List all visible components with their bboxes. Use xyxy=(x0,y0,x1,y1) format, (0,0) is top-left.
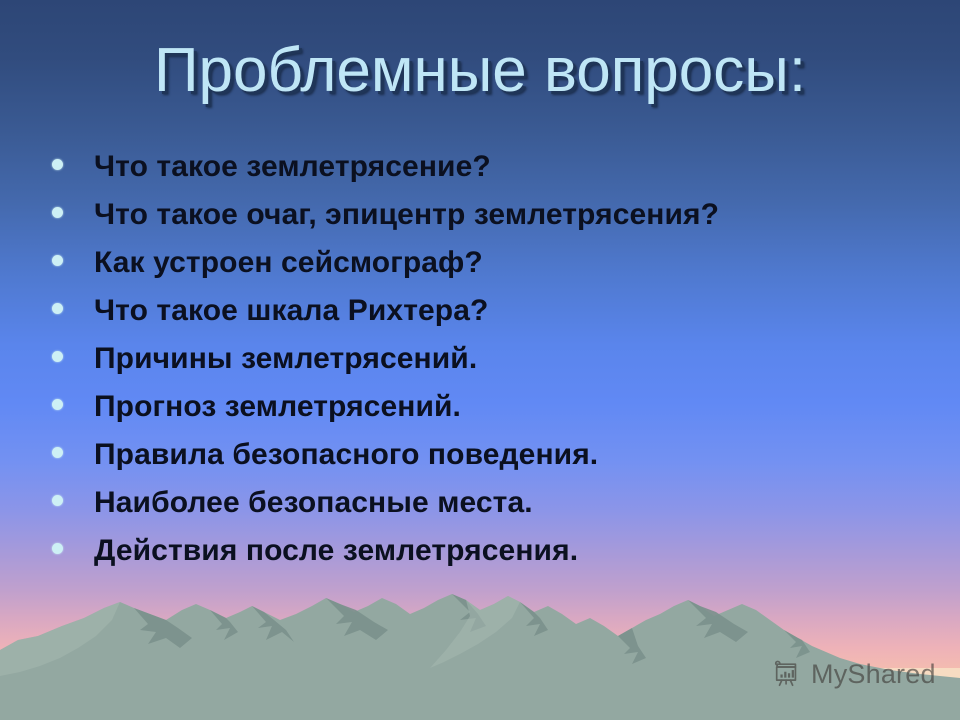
list-item: Причины землетрясений. xyxy=(52,344,932,392)
list-item: Что такое шкала Рихтера? xyxy=(52,296,932,344)
list-item-label: Как устроен сейсмограф? xyxy=(94,248,932,278)
list-item: Прогноз землетрясений. xyxy=(52,392,932,440)
bullet-marker-icon xyxy=(52,495,63,506)
bullet-marker-icon xyxy=(52,303,63,314)
list-item-label: Наиболее безопасные места. xyxy=(94,488,932,518)
list-item: Действия после землетрясения. xyxy=(52,536,932,584)
watermark-label: MyShared xyxy=(811,661,936,688)
list-item-label: Что такое очаг, эпицентр землетрясения? xyxy=(94,200,932,230)
slide-title: Проблемные вопросы: xyxy=(0,38,960,103)
list-item: Правила безопасного поведения. xyxy=(52,440,932,488)
list-item: Что такое очаг, эпицентр землетрясения? xyxy=(52,200,932,248)
list-item-label: Что такое шкала Рихтера? xyxy=(94,296,932,326)
list-item: Что такое землетрясение? xyxy=(52,152,932,200)
bullet-marker-icon xyxy=(52,351,63,362)
list-item: Как устроен сейсмограф? xyxy=(52,248,932,296)
bullet-marker-icon xyxy=(52,399,63,410)
watermark: MyShared xyxy=(772,659,936,689)
bullet-marker-icon xyxy=(52,207,63,218)
bullet-marker-icon xyxy=(52,543,63,554)
list-item-label: Что такое землетрясение? xyxy=(94,152,932,182)
bullet-marker-icon xyxy=(52,447,63,458)
list-item: Наиболее безопасные места. xyxy=(52,488,932,536)
bullet-marker-icon xyxy=(52,159,63,170)
list-item-label: Прогноз землетрясений. xyxy=(94,392,932,422)
list-item-label: Действия после землетрясения. xyxy=(94,536,932,566)
presentation-board-icon xyxy=(772,659,802,689)
list-item-label: Причины землетрясений. xyxy=(94,344,932,374)
mountain-range-silhouette xyxy=(0,580,960,720)
question-list: Что такое землетрясение? Что такое очаг,… xyxy=(52,152,932,584)
list-item-label: Правила безопасного поведения. xyxy=(94,440,932,470)
presentation-slide: Проблемные вопросы: Что такое землетрясе… xyxy=(0,0,960,720)
bullet-marker-icon xyxy=(52,255,63,266)
